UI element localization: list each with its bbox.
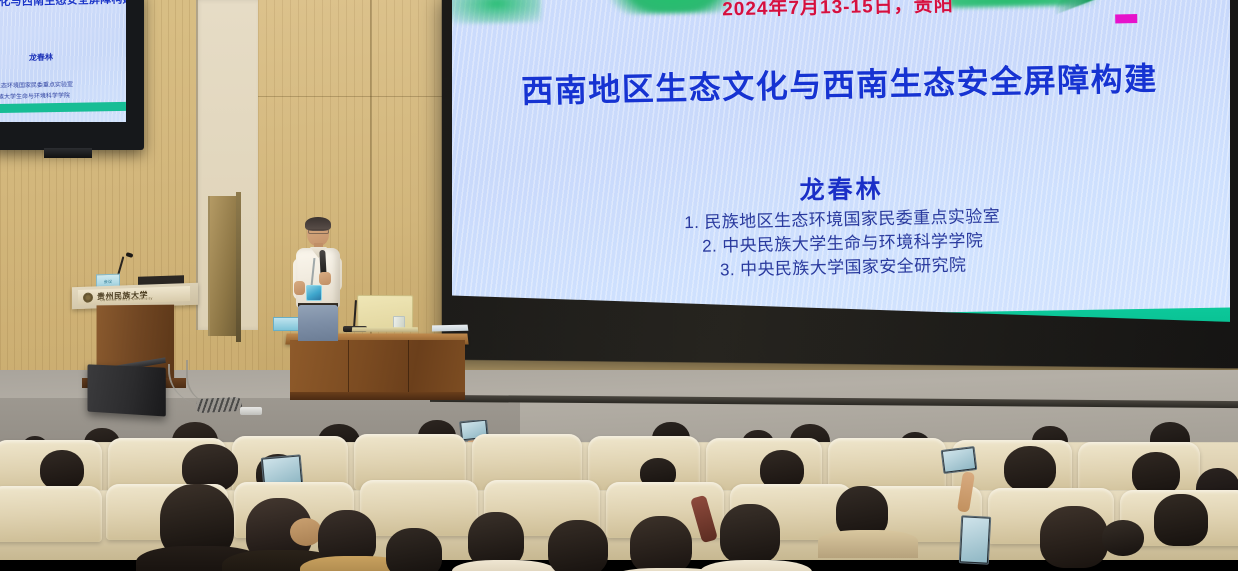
side-monitor-title: 文化与西南生态安全屏障构建 [0,0,126,10]
side-monitor-author: 龙春林 [0,50,116,64]
audience-shoulders [700,560,812,571]
audience-head [1004,446,1056,492]
audience-hair-bun [1102,520,1144,556]
speaker-left-hand [294,281,305,295]
stage-cable-coil [196,397,243,413]
led-screen: 生态文明贵阳国际论坛 2024年7月13-15日，贵阳 西南地区生态文化与西南生… [452,0,1230,336]
audience-phone [941,446,978,474]
table-papers [432,325,468,332]
side-monitor-affiliation: 族生态环境国家民委重点实验室 [0,78,106,90]
head-table-body [290,340,465,398]
pink-accent-mark [1115,14,1137,23]
laptop-base [352,327,418,331]
audience-tablet [959,515,991,565]
audience-head [630,516,692,571]
speaker-glasses [308,229,329,234]
audience-shoulders [818,530,918,558]
side-monitor-screen: 文化与西南生态安全屏障构建 龙春林 族生态环境国家民委重点实验室 民族大学生命与… [0,0,126,122]
slide-affiliation-list: 1. 民族地区生态环境国家民委重点实验室 2. 中央民族大学生命与环境科学学院 … [453,200,1230,288]
stage-door-frame [236,192,241,342]
head-table-base [290,392,465,400]
side-monitor-mount [44,148,92,158]
slide-date-line: 2024年7月13-15日，贵阳 [452,0,1227,27]
audience-shoulders [452,560,556,571]
side-monitor-bezel: 文化与西南生态安全屏障构建 龙春林 族生态环境国家民委重点实验室 民族大学生命与… [0,0,144,150]
slide-title: 西南地区生态文化与西南生态安全屏障构建 [452,52,1229,114]
side-monitor-green-band [0,102,126,113]
head-table-seam [348,340,349,398]
audience-seat [0,486,102,542]
audience-head [1154,494,1208,546]
floor-monitor-speaker [88,364,166,416]
lecture-hall-photo: 文化与西南生态安全屏障构建 龙春林 族生态环境国家民委重点实验室 民族大学生命与… [0,0,1238,571]
wall-seam [196,0,198,330]
head-table-seam [408,340,409,398]
speaker-badge [306,285,322,301]
speaker-right-hand [319,272,331,285]
audience-head [40,450,84,490]
audience-head [548,520,608,571]
university-seal-icon [83,292,93,302]
audience-head [1040,506,1108,568]
wall-seam [258,96,458,97]
power-strip [240,407,262,415]
speaker-jeans [298,305,338,341]
side-monitor-affiliation: 民族大学生命与环境科学学院 [0,89,106,101]
audience-head [720,504,780,564]
podium-institution-en: Guizhou Minzu University [100,296,153,302]
audience-head [386,528,442,571]
audience-area [0,420,1238,571]
